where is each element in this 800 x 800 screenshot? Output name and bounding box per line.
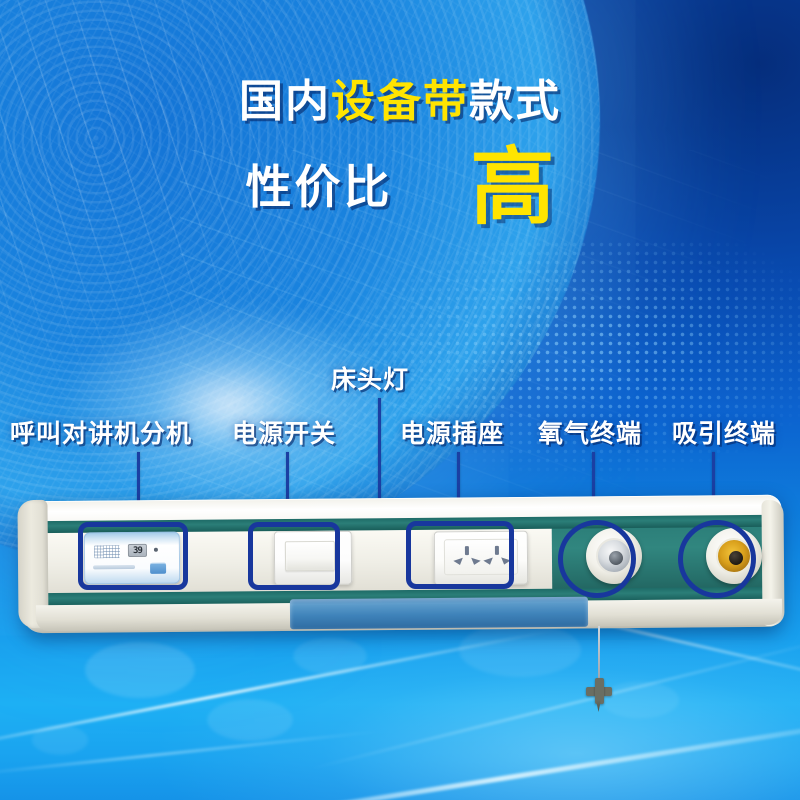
callout-label-power-socket: 电源插座 xyxy=(400,414,504,450)
callout-label-oxygen-terminal: 氧气终端 xyxy=(538,414,642,450)
highlight-ring-oxygen-terminal xyxy=(558,520,636,598)
highlight-box-power-switch xyxy=(248,522,340,590)
highlight-box-nurse-call xyxy=(78,522,188,590)
callout-label-suction-terminal: 吸引终端 xyxy=(672,414,776,450)
hook-wire xyxy=(598,626,600,682)
callout-label-bedside-lamp: 床头灯 xyxy=(331,360,409,396)
callout-label-nurse-call-intercom: 呼叫对讲机分机 xyxy=(10,414,192,450)
callout-layer: 呼叫对讲机分机 床头灯 电源开关 电源插座 氧气终端 吸引终端 xyxy=(0,0,800,800)
bhu-glass-rail-section xyxy=(290,597,588,630)
highlight-box-power-socket xyxy=(406,521,514,589)
product-banner: 国内设备带款式 性价比 高 呼叫对讲机分机 床头灯 电源开关 电源插座 氧气终端… xyxy=(0,0,800,800)
callout-label-power-switch: 电源开关 xyxy=(232,414,336,450)
highlight-ring-suction-terminal xyxy=(678,520,756,598)
